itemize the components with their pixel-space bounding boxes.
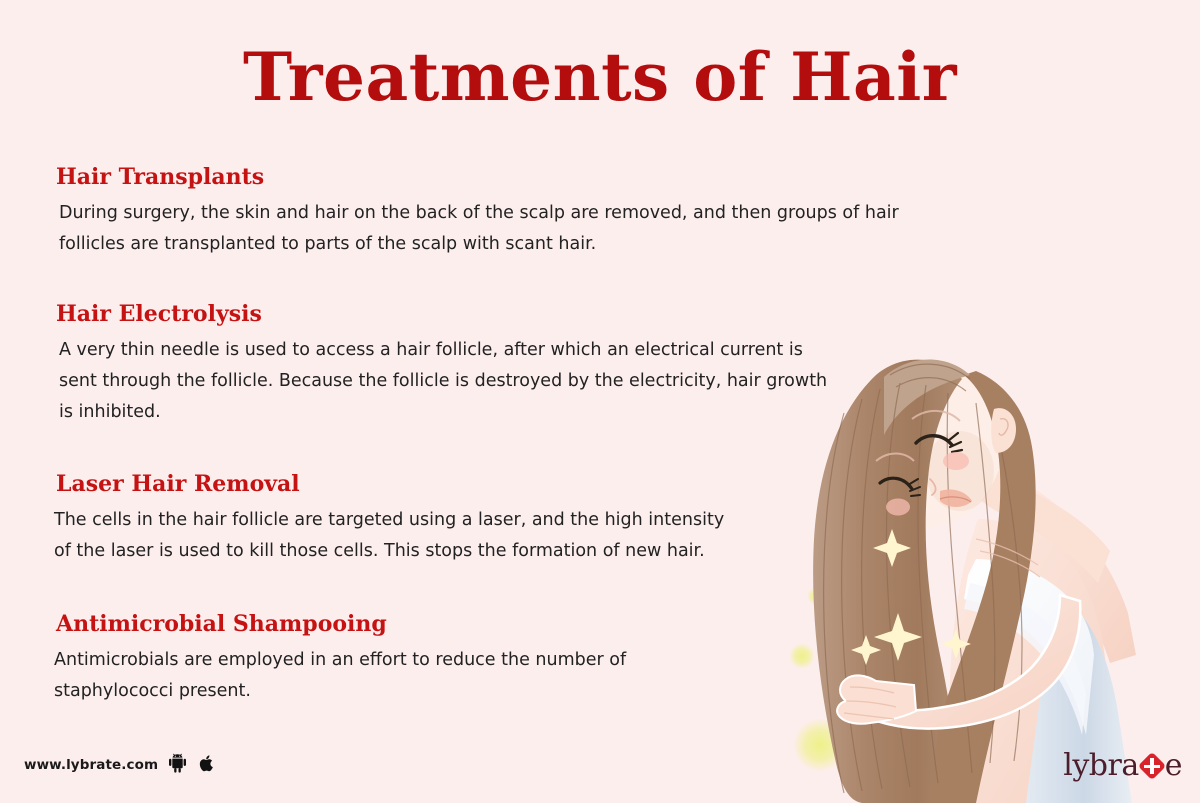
section-heading: Antimicrobial Shampooing — [56, 609, 626, 639]
apple-icon[interactable] — [197, 753, 214, 777]
hair-back — [813, 360, 962, 803]
ear-detail — [999, 419, 1008, 435]
body-line: follicles are transplanted to parts of t… — [54, 229, 899, 260]
red-diamond-plus-icon — [1139, 753, 1165, 779]
hair-strands — [824, 364, 1022, 793]
blush-right — [943, 452, 969, 470]
lips-line — [940, 497, 971, 502]
body-line: During surgery, the skin and hair on the… — [54, 198, 899, 229]
hair-highlight — [884, 359, 970, 435]
lips — [940, 489, 972, 507]
nose — [930, 479, 936, 495]
poster-canvas: Treatments of Hair Hair Transplants Duri… — [0, 0, 1200, 803]
eyes — [880, 433, 962, 496]
sparkles — [851, 529, 971, 665]
glow-dots — [789, 587, 855, 772]
body-line: of the laser is used to kill those cells… — [54, 536, 724, 567]
android-icon[interactable] — [168, 753, 187, 777]
fingers — [844, 687, 896, 719]
section-body: The cells in the hair follicle are targe… — [54, 505, 724, 567]
eyebrows — [876, 411, 960, 461]
ear — [991, 408, 1016, 453]
collarbone — [976, 539, 1040, 577]
logo-text-before: lybra — [1063, 751, 1138, 781]
lybrate-logo[interactable]: lybra e — [1063, 751, 1182, 781]
body-line: Antimicrobials are employed in an effort… — [54, 645, 626, 676]
section-body: During surgery, the skin and hair on the… — [54, 198, 899, 260]
body-line: staphylococci present. — [54, 676, 626, 707]
footer-left: www.lybrate.com — [24, 753, 214, 777]
page-title: Treatments of Hair — [0, 38, 1200, 116]
hand — [837, 675, 916, 723]
face-shading — [926, 431, 994, 511]
section-laser-hair-removal: Laser Hair Removal The cells in the hair… — [54, 469, 724, 567]
body-line: A very thin needle is used to access a h… — [54, 335, 827, 366]
section-hair-transplants: Hair Transplants During surgery, the ski… — [54, 162, 899, 260]
neck — [966, 463, 1110, 583]
section-antimicrobial-shampooing: Antimicrobial Shampooing Antimicrobials … — [54, 609, 626, 707]
far-arm — [1006, 479, 1136, 663]
top-shading — [964, 583, 1086, 735]
top-garment — [964, 559, 1094, 735]
hair-front-right — [928, 371, 1036, 803]
section-heading: Hair Electrolysis — [56, 299, 827, 329]
section-heading: Laser Hair Removal — [56, 469, 724, 499]
body-line: is inhibited. — [54, 397, 827, 428]
body-line: The cells in the hair follicle are targe… — [54, 505, 724, 536]
body-line: sent through the follicle. Because the f… — [54, 366, 827, 397]
section-body: Antimicrobials are employed in an effort… — [54, 645, 626, 707]
section-hair-electrolysis: Hair Electrolysis A very thin needle is … — [54, 299, 827, 428]
blush-left — [886, 499, 910, 516]
site-url[interactable]: www.lybrate.com — [24, 757, 158, 773]
face — [859, 365, 1003, 528]
woman-holding-long-hair-illustration — [780, 283, 1200, 803]
near-arm — [854, 595, 1080, 729]
logo-text-after: e — [1165, 751, 1182, 781]
section-body: A very thin needle is used to access a h… — [54, 335, 827, 428]
section-heading: Hair Transplants — [56, 162, 899, 192]
